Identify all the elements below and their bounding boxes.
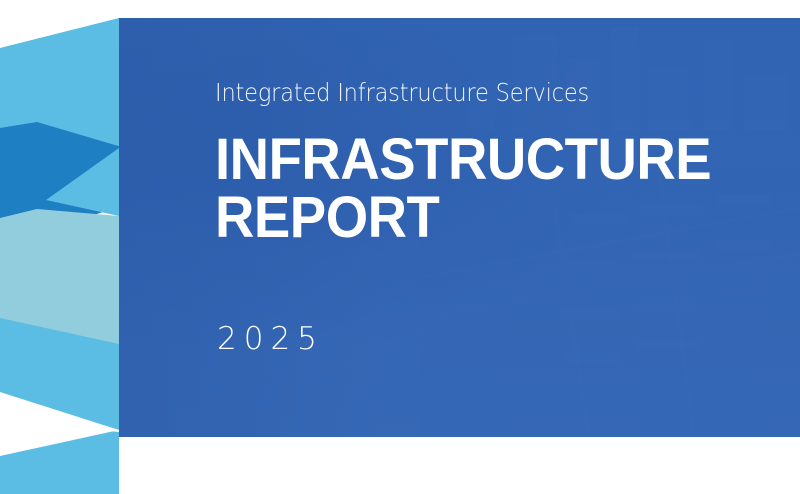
cover-year: 2025 <box>217 321 324 357</box>
report-cover-page: Integrated Infrastructure Services INFRA… <box>0 0 800 494</box>
hero-text-block: Integrated Infrastructure Services INFRA… <box>215 18 800 437</box>
chevron-band-pattern <box>0 0 125 494</box>
cover-subtitle: Integrated Infrastructure Services <box>215 78 589 107</box>
hero-panel: Integrated Infrastructure Services INFRA… <box>119 18 800 437</box>
cover-title-line-1: INFRASTRUCTURE <box>215 131 711 189</box>
cover-title-line-2: REPORT <box>215 189 439 247</box>
